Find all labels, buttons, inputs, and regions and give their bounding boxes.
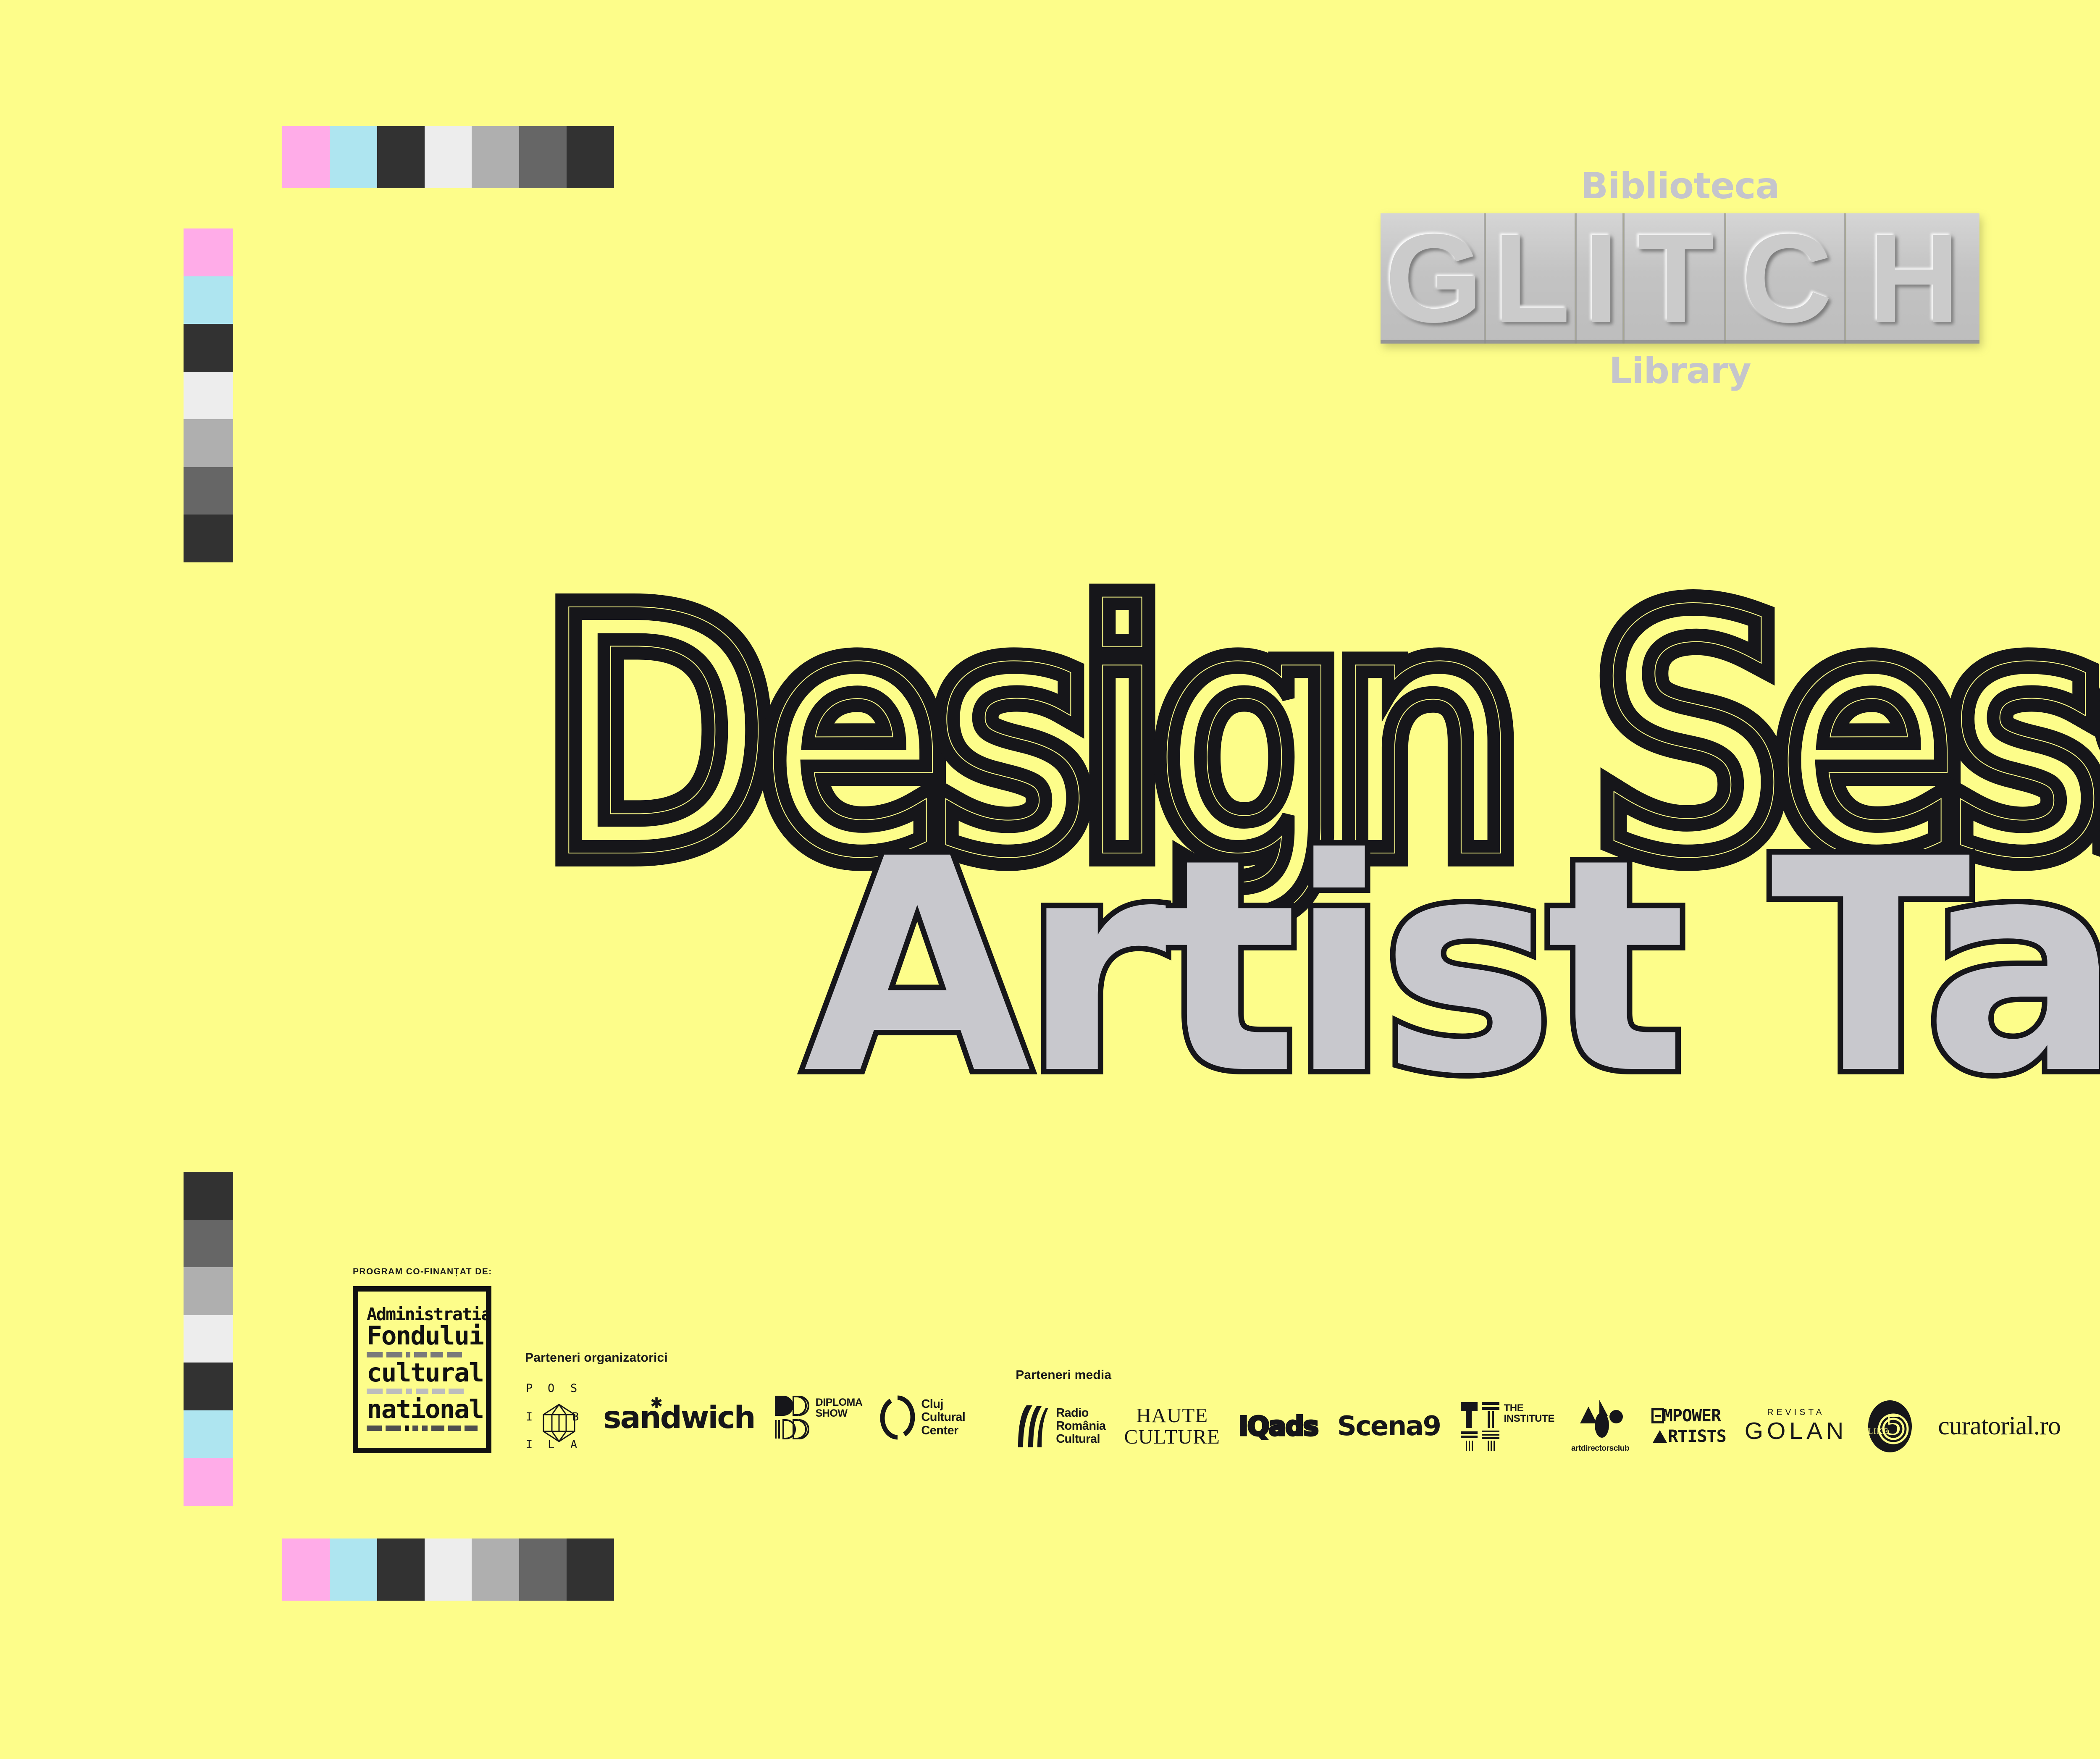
haute-culture-line-1: HAUTE xyxy=(1124,1405,1220,1426)
ccc-line-3: Center xyxy=(921,1424,965,1437)
ccc-line-1: Cluj xyxy=(921,1398,965,1411)
color-chip-2 xyxy=(184,1220,233,1268)
empower-e-icon xyxy=(1651,1408,1664,1423)
scena9-logo[interactable]: Scena9 xyxy=(1337,1411,1441,1442)
color-chip-3 xyxy=(377,1538,425,1601)
haute-culture-logo[interactable]: HAUTE CULTURE xyxy=(1124,1405,1220,1448)
svg-text:5: 5 xyxy=(1886,1408,1901,1441)
like5-logo[interactable]: 5 LIKE xyxy=(1866,1399,1919,1453)
svg-text:H: H xyxy=(1869,213,1957,346)
artists-a-icon xyxy=(1653,1430,1667,1443)
cluj-cultural-center-text: Cluj Cultural Center xyxy=(921,1398,965,1437)
afcn-logo[interactable]: Administratia Fondului cultural national xyxy=(353,1286,491,1453)
revista-golan-logo[interactable]: REVISTA GOLAN xyxy=(1745,1407,1848,1445)
posibila-gem-icon xyxy=(543,1404,575,1442)
color-chip-4 xyxy=(184,1315,233,1363)
color-chip-5 xyxy=(184,1363,233,1410)
diploma-show-logo[interactable]: DIPLOMA SHOW xyxy=(774,1395,863,1440)
the-institute-logo[interactable]: THE INSTITUTE xyxy=(1460,1401,1554,1452)
lockup-kicker-bottom: Library xyxy=(1609,353,1751,389)
color-chip-7 xyxy=(567,1538,614,1601)
afcn-line-4: national xyxy=(367,1397,478,1422)
afcn-line-1: Administratia xyxy=(367,1306,478,1323)
curatorial-ro-wordmark: curatorial.ro xyxy=(1938,1411,2061,1441)
afcn-rule-2 xyxy=(367,1389,478,1394)
posibila-letter-o: O xyxy=(548,1382,554,1395)
color-chip-6 xyxy=(184,467,233,515)
rrc-line-1: Radio xyxy=(1056,1407,1105,1420)
afcn-line-2: Fondului xyxy=(367,1324,478,1349)
svg-text:T: T xyxy=(1637,213,1714,346)
posibila-letter-p: P xyxy=(526,1382,533,1395)
glitch-library-lockup: Biblioteca xyxy=(0,168,2100,389)
posibila-letter-i1: I xyxy=(526,1410,533,1423)
color-chip-bar-bottom-left xyxy=(282,1538,614,1601)
artdirectorsclub-text: artdirectorsclub xyxy=(1571,1444,1629,1453)
rrc-waves-icon xyxy=(1016,1404,1050,1449)
haute-culture-line-2: CULTURE xyxy=(1124,1426,1220,1448)
color-chip-3 xyxy=(184,1267,233,1315)
empower-word: MPOWER xyxy=(1663,1406,1721,1426)
partners-footer: PROGRAM CO-FINANȚAT DE: Administratia Fo… xyxy=(353,1273,2100,1453)
tt-monogram-icon xyxy=(1460,1401,1500,1452)
color-chip-6 xyxy=(519,1538,567,1601)
revista-golan-line-2: GOLAN xyxy=(1745,1418,1848,1445)
afcn-line-3: cultural xyxy=(367,1361,478,1386)
artdirectorsclub-logo[interactable]: artdirectorsclub xyxy=(1571,1399,1629,1453)
color-chip-5 xyxy=(184,419,233,467)
event-headline: Design Sessions Design Sessions Design S… xyxy=(0,527,2100,1157)
artists-line: RTISTS xyxy=(1646,1426,1726,1447)
rrc-line-3: Cultural xyxy=(1056,1433,1105,1446)
sandwich-logo[interactable]: sandwich ✱ xyxy=(603,1402,755,1433)
posibila-logo[interactable]: P O S I B I L A xyxy=(525,1382,592,1453)
artists-word: RTISTS xyxy=(1668,1426,1726,1447)
color-chip-6 xyxy=(184,1410,233,1458)
afcn-rule-3 xyxy=(367,1426,478,1431)
color-chip-1 xyxy=(282,1538,330,1601)
headline-line-2: Artist Talks xyxy=(803,796,2100,1139)
svg-text:LIKE: LIKE xyxy=(1868,1427,1889,1436)
afcn-rule-1 xyxy=(367,1352,478,1357)
the-institute-text: THE INSTITUTE xyxy=(1504,1401,1554,1424)
diploma-show-line-2: SHOW xyxy=(816,1408,863,1419)
svg-text:G: G xyxy=(1385,213,1480,346)
color-chip-4 xyxy=(425,1538,472,1601)
scena9-wordmark: Scena9 xyxy=(1337,1411,1441,1442)
cluj-cultural-center-logo[interactable]: Cluj Cultural Center xyxy=(880,1395,965,1440)
empower-line: MPOWER xyxy=(1651,1406,1721,1426)
svg-text:C: C xyxy=(1741,213,1830,346)
posibila-letter-i2: I xyxy=(526,1438,533,1451)
color-chip-1 xyxy=(184,1172,233,1220)
media-partners-logos: Radio România Cultural HAUTE CULTURE IQa… xyxy=(1016,1399,2061,1453)
media-partners-label: Parteneri media xyxy=(1016,1368,2061,1382)
empower-artists-logo[interactable]: MPOWER RTISTS xyxy=(1646,1406,1726,1447)
organizing-partners-logos: P O S I B I L A xyxy=(525,1382,965,1453)
radio-romania-cultural-logo[interactable]: Radio România Cultural xyxy=(1016,1404,1105,1449)
lockup-kicker-top: Biblioteca xyxy=(1580,168,1779,204)
curatorial-ro-logo[interactable]: curatorial.ro xyxy=(1938,1411,2061,1441)
media-partners-column: Parteneri media Radio România Cultural xyxy=(1016,1368,2061,1453)
adc-shapes-icon xyxy=(1578,1399,1623,1439)
the-institute-line-1: THE xyxy=(1504,1403,1554,1413)
sandwich-wordmark: sandwich xyxy=(603,1402,755,1433)
the-institute-line-2: INSTITUTE xyxy=(1504,1413,1554,1424)
ccc-lens-icon xyxy=(880,1395,915,1440)
cofinance-label: PROGRAM CO-FINANȚAT DE: xyxy=(353,1267,508,1277)
organizing-partners-label: Parteneri organizatorici xyxy=(525,1351,965,1365)
svg-text:I: I xyxy=(1583,213,1616,346)
iqads-wordmark: IQads xyxy=(1239,1411,1318,1441)
sandwich-star-icon: ✱ xyxy=(650,1396,663,1411)
color-chip-bar-left-lower xyxy=(184,1172,233,1506)
svg-text:L: L xyxy=(1493,213,1568,346)
organizing-partners-column: Parteneri organizatorici P O S I B I L A xyxy=(525,1351,965,1453)
glitch-wordmark: G L I T C H xyxy=(1381,213,1979,346)
rrc-line-2: România xyxy=(1056,1420,1105,1433)
revista-golan-line-1: REVISTA xyxy=(1745,1407,1848,1418)
diploma-show-line-1: DIPLOMA xyxy=(816,1397,863,1408)
like5-badge-icon: 5 LIKE xyxy=(1866,1399,1919,1453)
ccc-line-2: Cultural xyxy=(921,1411,965,1424)
color-chip-2 xyxy=(330,1538,377,1601)
color-chip-7 xyxy=(184,1458,233,1506)
diploma-show-text: DIPLOMA SHOW xyxy=(816,1395,863,1419)
posibila-letter-s: S xyxy=(570,1382,577,1395)
cofinance-column: PROGRAM CO-FINANȚAT DE: Administratia Fo… xyxy=(353,1267,508,1453)
rrc-text: Radio România Cultural xyxy=(1056,1407,1105,1446)
color-chip-5 xyxy=(472,1538,519,1601)
iqads-logo[interactable]: IQads xyxy=(1239,1411,1318,1441)
dd-monogram-icon xyxy=(774,1395,812,1440)
